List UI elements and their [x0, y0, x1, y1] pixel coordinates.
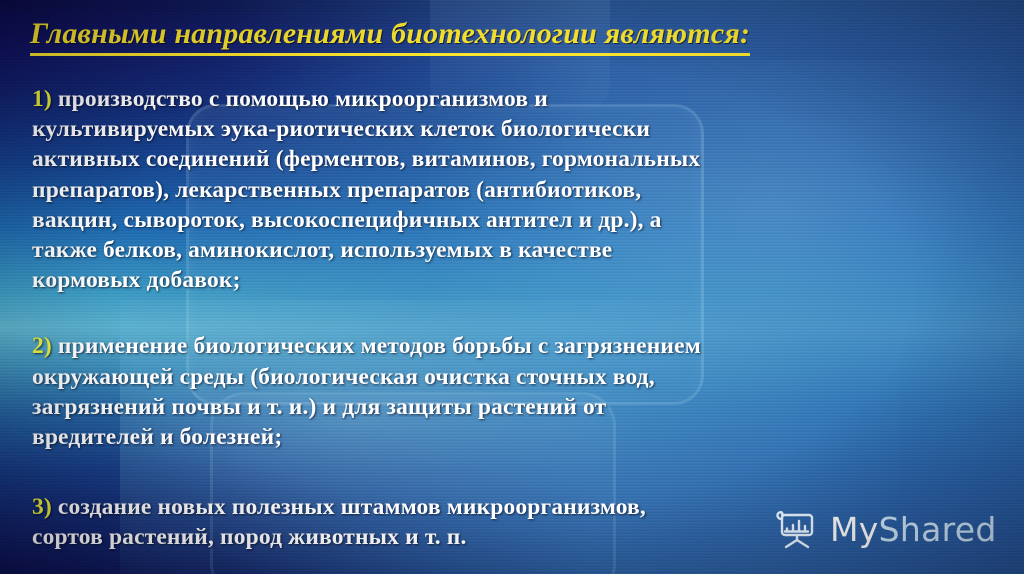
- presentation-slide: Главными направлениями биотехнологии явл…: [0, 0, 1024, 574]
- paragraph-1-line-6: также белков, аминокислот, используемых …: [32, 235, 1007, 265]
- paragraph-2-line-1-text: применение биологических методов борьбы …: [58, 333, 701, 359]
- paragraph-1-line-3: активных соединений (ферментов, витамино…: [32, 144, 1007, 174]
- paragraph-2-line-4: вредителей и болезней;: [32, 422, 1007, 452]
- slide-body: 1) производство с помощью микроорганизмо…: [22, 84, 1007, 553]
- myshared-logo-text: MyShared: [830, 513, 997, 546]
- paragraph-1-line-1-text: производство с помощью микроорганизмов и: [58, 86, 548, 112]
- list-item-2: 2) применение биологических методов борь…: [22, 331, 1007, 452]
- slide-content: Главными направлениями биотехнологии явл…: [0, 0, 1024, 574]
- paragraph-1-line-1: 1) производство с помощью микроорганизмо…: [32, 84, 1007, 114]
- list-marker-2: 2): [32, 333, 52, 359]
- paragraph-1-line-2: культивируемых эука-риотических клеток б…: [32, 114, 1007, 144]
- slide-title: Главными направлениями биотехнологии явл…: [30, 16, 750, 56]
- list-item-1: 1) производство с помощью микроорганизмо…: [22, 84, 1007, 295]
- list-marker-1: 1): [32, 86, 52, 112]
- logo-text-my: My: [830, 510, 879, 549]
- paragraph-1-line-4: препаратов), лекарственных препаратов (а…: [32, 175, 1007, 205]
- logo-text-shared: Shared: [879, 510, 997, 549]
- slide-title-container: Главными направлениями биотехнологии явл…: [30, 16, 990, 56]
- paragraph-1-line-5: вакцин, сывороток, высокоспецифичных ант…: [32, 205, 1007, 235]
- paragraph-1-line-7: кормовых добавок;: [32, 265, 1007, 295]
- myshared-logo[interactable]: MyShared: [772, 508, 997, 550]
- list-marker-3: 3): [32, 494, 52, 520]
- presentation-chart-icon: [772, 508, 818, 550]
- paragraph-2-line-2: окружающей среды (биологическая очистка …: [32, 362, 1007, 392]
- paragraph-3-line-1-text: создание новых полезных штаммов микроорг…: [58, 494, 646, 520]
- paragraph-2-line-3: загрязнений почвы и т. и.) и для защиты …: [32, 392, 1007, 422]
- paragraph-2-line-1: 2) применение биологических методов борь…: [32, 331, 1007, 361]
